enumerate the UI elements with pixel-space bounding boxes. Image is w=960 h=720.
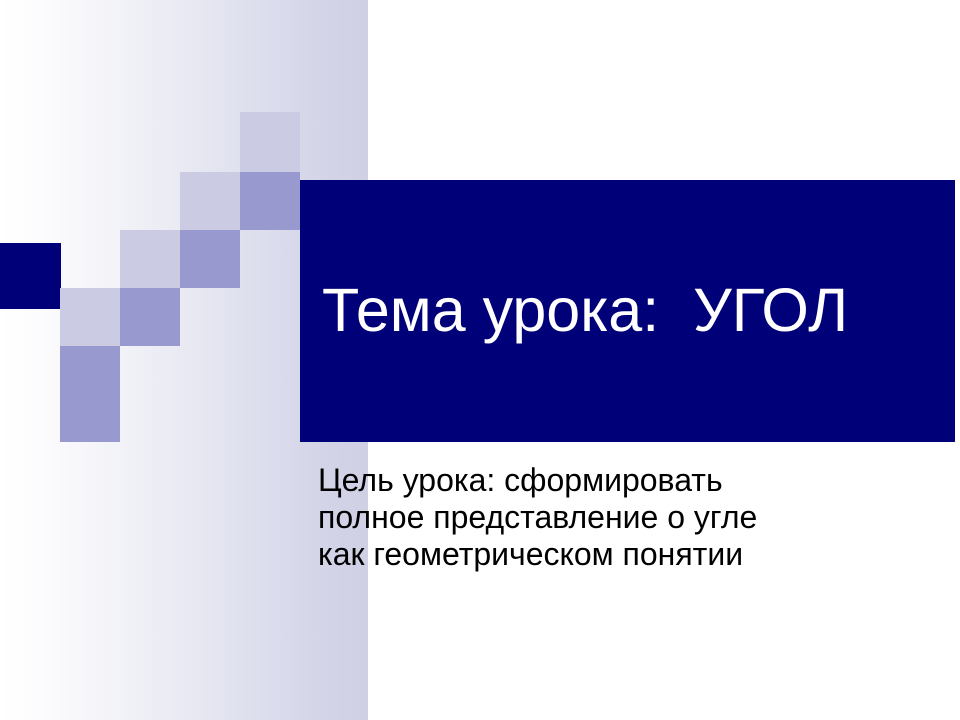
slide-subtitle: Цель урока: сформировать полное представ… (318, 462, 908, 573)
subtitle-line-1: Цель урока: сформировать (318, 462, 908, 499)
stair-square-3 (240, 172, 300, 230)
stair-square-4 (120, 230, 180, 288)
stair-square-5 (180, 230, 240, 288)
subtitle-line-2: полное представление о угле (318, 499, 908, 536)
stair-square-2 (180, 172, 240, 230)
subtitle-line-3: как геометрическом понятии (318, 536, 908, 573)
stair-square-7 (120, 288, 180, 346)
stair-square-1 (240, 112, 300, 172)
navy-accent-square-left (0, 243, 61, 309)
stair-square-8 (60, 346, 120, 442)
page-title: Тема урока: УГОЛ (322, 276, 922, 344)
presentation-slide: Тема урока: УГОЛ Цель урока: сформироват… (0, 0, 960, 720)
stair-square-6 (60, 288, 120, 346)
